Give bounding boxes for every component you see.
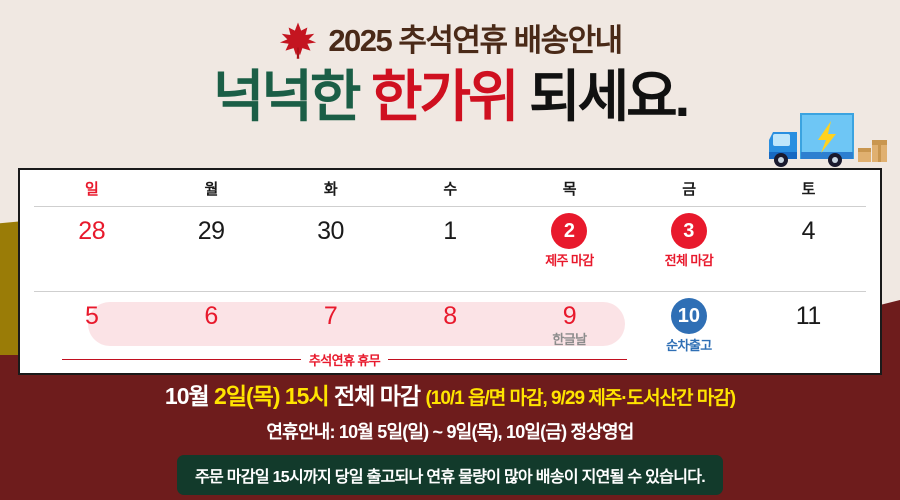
- calendar-week-1: 28 29 30 1 2 제주 마감 3 전체 마감 4: [32, 207, 868, 291]
- footer-holiday-line: 연휴안내: 10월 5일(일) ~ 9일(목), 10일(금) 정상영업: [0, 418, 900, 444]
- day-number: 29: [198, 219, 225, 243]
- holiday-range-label: 추석연휴 휴무: [62, 350, 627, 369]
- calendar-week-2: 5 6 7 8 9 한글날 10 순차출고 11: [32, 292, 868, 376]
- day-number: 6: [204, 304, 217, 328]
- holiday-label-text: 추석연휴 휴무: [309, 350, 380, 369]
- calendar-card: 일 월 화 수 목 금 토 28 29 30 1 2 제주 마감: [18, 168, 882, 375]
- cardboard-box-icon: [858, 140, 887, 162]
- day-number: 7: [324, 304, 337, 328]
- maple-leaf-icon: [278, 20, 318, 60]
- day-cell[interactable]: 8: [390, 292, 509, 352]
- day-cell-hangul-day[interactable]: 9 한글날: [510, 292, 629, 352]
- day-cell[interactable]: 30: [271, 207, 390, 267]
- day-cell[interactable]: 6: [151, 292, 270, 352]
- day-number: 5: [85, 304, 98, 328]
- headline-part-2: 한가위: [371, 65, 517, 128]
- day-number: 1: [443, 219, 456, 243]
- day-cell[interactable]: 29: [151, 207, 270, 267]
- headline: 넉넉한 한가위 되세요.: [0, 68, 900, 127]
- day-note: 제주 마감: [545, 254, 593, 267]
- day-cell-full-deadline[interactable]: 3 전체 마감: [629, 207, 748, 267]
- day-cell[interactable]: 28: [32, 207, 151, 267]
- day-number: 28: [78, 219, 105, 243]
- day-cell-sequential-shipping[interactable]: 10 순차출고: [629, 292, 748, 352]
- day-number: 30: [317, 219, 344, 243]
- holiday-line-right: [388, 359, 627, 361]
- day-number: 11: [796, 304, 821, 328]
- day-note: 전체 마감: [665, 254, 713, 267]
- day-cell[interactable]: 5: [32, 292, 151, 352]
- weekday-wed: 수: [390, 170, 509, 206]
- footer: 10월 2일(목) 15시 전체 마감 (10/1 읍/면 마감, 9/29 제…: [0, 375, 900, 500]
- footer-notice-badge: 주문 마감일 15시까지 당일 출고되나 연휴 물량이 많아 배송이 지연될 수…: [177, 455, 723, 495]
- kicker-text: 2025 추석연휴 배송안내: [328, 25, 621, 56]
- day-badge-blue: 10: [671, 298, 707, 334]
- day-badge-red: 2: [551, 213, 587, 249]
- day-cell[interactable]: 1: [390, 207, 509, 267]
- day-cell-jeju-deadline[interactable]: 2 제주 마감: [510, 207, 629, 267]
- day-badge-red: 3: [671, 213, 707, 249]
- day-number: 9: [563, 304, 576, 328]
- day-cell[interactable]: 11: [749, 292, 868, 352]
- kicker-row: 2025 추석연휴 배송안내: [0, 18, 900, 62]
- day-note: 순차출고: [666, 339, 711, 352]
- headline-part-3: 되세요.: [529, 65, 687, 128]
- footer-month: 10월: [165, 383, 214, 409]
- footer-deadline: 2일(목) 15시: [214, 383, 329, 409]
- day-cell[interactable]: 4: [749, 207, 868, 267]
- weekday-sat: 토: [749, 170, 868, 206]
- day-number: 8: [443, 304, 456, 328]
- weekday-fri: 금: [629, 170, 748, 206]
- header: 2025 추석연휴 배송안내 넉넉한 한가위 되세요.: [0, 0, 900, 127]
- footer-deadline-note: (10/1 읍/면 마감, 9/29 제주·도서산간 마감): [425, 388, 735, 409]
- day-number: 4: [802, 219, 815, 243]
- day-cell[interactable]: 7: [271, 292, 390, 352]
- weekday-mon: 월: [151, 170, 270, 206]
- day-note: 한글날: [552, 333, 586, 346]
- weekday-sun: 일: [32, 170, 151, 206]
- footer-deadline-suffix: 전체 마감: [329, 383, 426, 409]
- headline-part-1: 넉넉한: [213, 65, 359, 128]
- holiday-line-left: [62, 359, 301, 361]
- footer-deadline-line: 10월 2일(목) 15시 전체 마감 (10/1 읍/면 마감, 9/29 제…: [0, 383, 900, 411]
- weekday-thu: 목: [510, 170, 629, 206]
- weekday-tue: 화: [271, 170, 390, 206]
- calendar-weekday-row: 일 월 화 수 목 금 토: [32, 170, 868, 206]
